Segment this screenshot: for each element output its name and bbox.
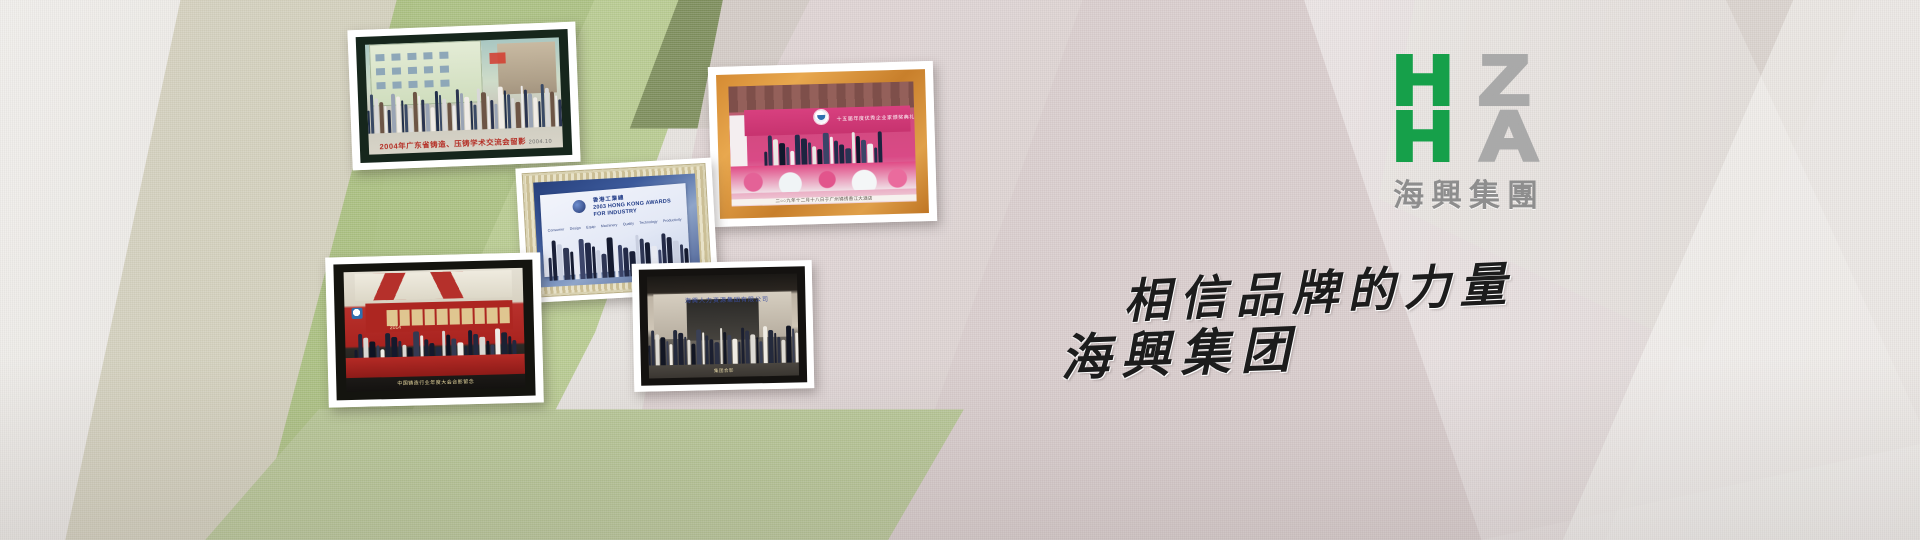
group-of-people (367, 82, 563, 133)
cell (387, 310, 398, 326)
cell (474, 307, 485, 323)
backdrop-character-cells (387, 307, 511, 326)
background-bottom-shadow (0, 0, 1920, 540)
red-carpet (346, 354, 525, 378)
photo-frame-guangdong-casting-conference[interactable]: 2004年广东省铸造、压铸学术交流会留影 2004.10 (347, 22, 580, 171)
photo-frame-red-stage-conference[interactable]: 2014 中国铸造行业年度大会合影留念 (325, 252, 544, 407)
cell (499, 307, 510, 323)
category-label: Consumer (548, 227, 565, 232)
photo-image: 十五届年度优秀企业家颁奖典礼 二○○九年十二月十八日于广州锦绣香江大酒店 (728, 81, 916, 206)
photo-frame-company-entrance[interactable]: 海興人力资源集团有限公司 集团合影 (632, 260, 815, 392)
logo-letters-za-gray: Z A (1479, 52, 1569, 164)
photo-mat: 十五届年度优秀企业家颁奖典礼 二○○九年十二月十八日于广州锦绣香江大酒店 (708, 61, 937, 227)
cell (399, 309, 410, 325)
logo-letters-hh-green: H H (1393, 52, 1475, 164)
ceiling-beams (354, 270, 512, 300)
photo-mat: 2014 中国铸造行业年度大会合影留念 (325, 252, 544, 407)
cell (424, 309, 435, 325)
flower-decoration (731, 162, 917, 194)
photo-image: 2014 中国铸造行业年度大会合影留念 (344, 268, 526, 392)
photo-frame-award-ceremony[interactable]: 十五届年度优秀企业家颁奖典礼 二○○九年十二月十八日于广州锦绣香江大酒店 (708, 61, 937, 227)
category-label: Quality (623, 221, 634, 226)
cell (462, 308, 473, 324)
category-label: Productivity (663, 217, 682, 223)
cell (412, 309, 423, 325)
photo-mat: 2004年广东省铸造、压铸学术交流会留影 2004.10 (347, 22, 580, 171)
logo-letter-a: A (1479, 108, 1585, 164)
photo-caption: 中国铸造行业年度大会合影留念 (346, 377, 525, 388)
photo-mat: 海興人力资源集团有限公司 集团合影 (632, 260, 815, 392)
window-row-2 (376, 68, 385, 75)
photo-caption: 集团合影 (649, 366, 799, 375)
company-hero-banner: 2004年广东省铸造、压铸学术交流会留影 2004.10 十五届年度优秀企业家颁… (0, 0, 1920, 540)
hkaward-logo-icon (573, 199, 587, 213)
certificate-title: 香港工業總 2003 HONG KONG AWARDS FOR INDUSTRY (593, 191, 672, 218)
cell (487, 307, 498, 323)
logo-mark: H H Z A (1393, 52, 1571, 164)
cell (437, 308, 448, 324)
category-label: Technology (640, 219, 658, 225)
category-label: Equip (587, 225, 596, 230)
flag (489, 53, 505, 65)
company-logo[interactable]: H H Z A 海興集團 (1393, 52, 1593, 202)
photo-image: 2004年广东省铸造、压铸学术交流会留影 2004.10 (365, 37, 563, 154)
group-of-people (648, 323, 799, 365)
photo-image: 海興人力资源集团有限公司 集团合影 (647, 273, 799, 378)
slogan-line-2: 海興集团 (1059, 309, 1302, 390)
logo-letter-h-bottom: H (1393, 108, 1490, 164)
logo-company-name-cn: 海興集團 (1393, 170, 1593, 215)
brand-slogan: 相信品牌的力量 海興集团 (1060, 248, 1500, 408)
category-label: Design (570, 226, 581, 231)
cell (449, 308, 460, 324)
category-label: Machinery (601, 223, 618, 228)
window-row-1 (375, 54, 384, 61)
organization-emblem-icon (352, 308, 363, 319)
